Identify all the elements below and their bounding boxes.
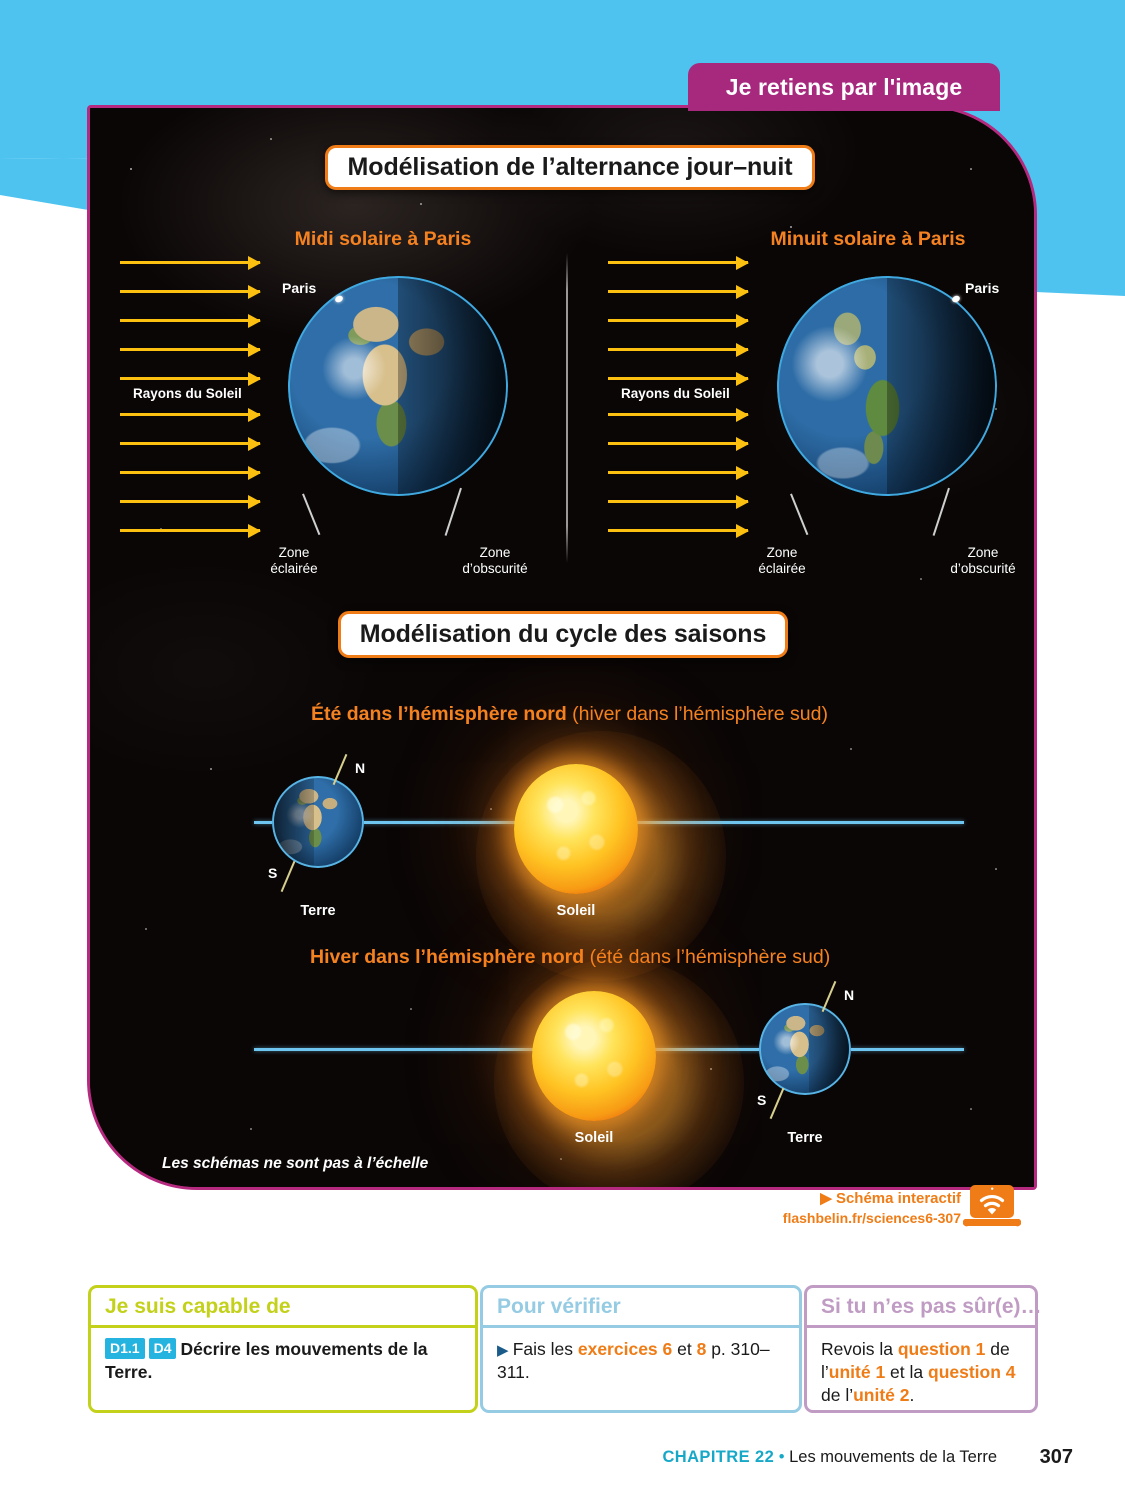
column-header-pour-verifier: Pour vérifier [480, 1285, 802, 1325]
footer-separator: • [774, 1448, 789, 1466]
summer-heading: Été dans l’hémisphère nord (hiver dans l… [311, 703, 828, 726]
column-header-label-3: Si tu n’es pas sûr(e)… [821, 1295, 1042, 1319]
column-header-je-suis-capable: Je suis capable de [88, 1285, 478, 1325]
soleil-label-summer: Soleil [526, 903, 626, 919]
zone-eclairee-label-left: Zone éclairée [252, 545, 336, 577]
verify-text-1: Fais les [513, 1339, 578, 1359]
scale-disclaimer: Les schémas ne sont pas à l’échelle [162, 1155, 428, 1173]
footer-chapter-number: CHAPITRE 22 [662, 1448, 774, 1466]
question-ref-1: question 1 [898, 1339, 986, 1359]
question-ref-2: question 4 [928, 1362, 1016, 1382]
earth-summer-rim [272, 776, 364, 868]
leader-line-lit-right [790, 494, 808, 535]
page-number: 307 [1040, 1446, 1073, 1469]
table-column-pour-verifier: Pour vérifier ▶ Fais les exercices 6 et … [480, 1285, 802, 1413]
zone-obscurite-label-right: Zone d’obscurité [928, 545, 1037, 577]
earth-summer [272, 776, 364, 868]
interactive-schema-link[interactable]: ▶ Schéma interactif flashbelin.fr/scienc… [806, 1188, 1021, 1240]
table-column-je-suis-capable: Je suis capable de D1.1D4Décrire les mou… [88, 1285, 478, 1413]
unit-ref-2: unité 2 [853, 1385, 909, 1405]
leader-line-lit-left [302, 494, 320, 535]
column-header-si-tu-nes-pas-sur: Si tu n’es pas sûr(e)… [804, 1285, 1038, 1325]
earth-globe-minuit [777, 276, 997, 496]
title-box-1-label: Modélisation de l’alternance jour–nuit [348, 153, 793, 182]
review-text-5: . [910, 1385, 915, 1405]
laptop-wifi-icon[interactable] [963, 1183, 1021, 1231]
earth-winter-rim [759, 1003, 851, 1095]
title-box-cycle-saisons: Modélisation du cycle des saisons [338, 611, 788, 658]
column-body-je-suis-capable: D1.1D4Décrire les mouvements de la Terre… [88, 1325, 478, 1413]
section-tab-label: Je retiens par l'image [726, 74, 963, 101]
midi-solaire-heading: Midi solaire à Paris [218, 228, 548, 251]
section-tab-je-retiens[interactable]: Je retiens par l'image [688, 63, 1000, 111]
rayons-du-soleil-label-left: Rayons du Soleil [133, 386, 242, 401]
badge-d4: D4 [149, 1338, 177, 1359]
footer-chapter-line: CHAPITRE 22 • Les mouvements de la Terre [662, 1448, 997, 1467]
unit-ref-1: unité 1 [829, 1362, 885, 1382]
bullet-triangle-icon: ▶ [497, 1342, 513, 1359]
column-header-label-1: Je suis capable de [105, 1295, 291, 1319]
column-body-si-tu-nes-pas-sur: Revois la question 1 de l’unité 1 et la … [804, 1325, 1038, 1413]
paris-label-minuit: Paris [965, 280, 999, 296]
page-footer: CHAPITRE 22 • Les mouvements de la Terre… [0, 1448, 1125, 1482]
sun-winter [532, 991, 656, 1121]
title-box-2-label: Modélisation du cycle des saisons [360, 620, 767, 649]
zone-obscurite-label-left: Zone d’obscurité [440, 545, 550, 577]
summary-table: Je suis capable de D1.1D4Décrire les mou… [88, 1285, 1038, 1415]
title-box-alternance-jour-nuit: Modélisation de l’alternance jour–nuit [325, 145, 815, 190]
summer-heading-bold: Été dans l’hémisphère nord [311, 703, 567, 725]
table-column-si-tu-nes-pas-sur: Si tu n’es pas sûr(e)… Revois la questio… [804, 1285, 1038, 1413]
column-header-label-2: Pour vérifier [497, 1295, 621, 1319]
vertical-divider [566, 253, 568, 563]
earth-atmosphere-rim [288, 276, 508, 496]
footer-chapter-name: Les mouvements de la Terre [789, 1448, 997, 1466]
verify-text-2: et [672, 1339, 696, 1359]
south-pole-label-summer: S [268, 865, 277, 881]
review-text-3: et la [885, 1362, 928, 1382]
summer-heading-normal: (hiver dans l’hémisphère sud) [567, 703, 828, 725]
paris-label-midi: Paris [282, 280, 316, 296]
terre-label-summer: Terre [268, 903, 368, 919]
earth-winter [759, 1003, 851, 1095]
schema-interactif-url: flashbelin.fr/sciences6-307 [783, 1210, 961, 1226]
exercise-ref-2: 8 [697, 1339, 707, 1359]
zone-eclairee-label-right: Zone éclairée [740, 545, 824, 577]
terre-label-winter: Terre [755, 1130, 855, 1146]
sun-summer [514, 764, 638, 894]
rayons-du-soleil-label-right: Rayons du Soleil [621, 386, 730, 401]
south-pole-label-winter: S [757, 1092, 766, 1108]
earth-globe-midi [288, 276, 508, 496]
exercise-ref-1: exercices 6 [578, 1339, 672, 1359]
earth-atmosphere-rim-right [777, 276, 997, 496]
north-pole-label-summer: N [355, 760, 365, 776]
review-text-1: Revois la [821, 1339, 898, 1359]
minuit-solaire-heading: Minuit solaire à Paris [703, 228, 1033, 251]
textbook-page: Je retiens par l'image [0, 0, 1125, 1500]
soleil-label-winter: Soleil [544, 1130, 644, 1146]
review-text-4: de l’ [821, 1385, 853, 1405]
north-pole-label-winter: N [844, 987, 854, 1003]
badge-d1-1: D1.1 [105, 1338, 145, 1359]
column-body-pour-verifier: ▶ Fais les exercices 6 et 8 p. 310–311. [480, 1325, 802, 1413]
schema-interactif-label: ▶ Schéma interactif [820, 1189, 961, 1207]
